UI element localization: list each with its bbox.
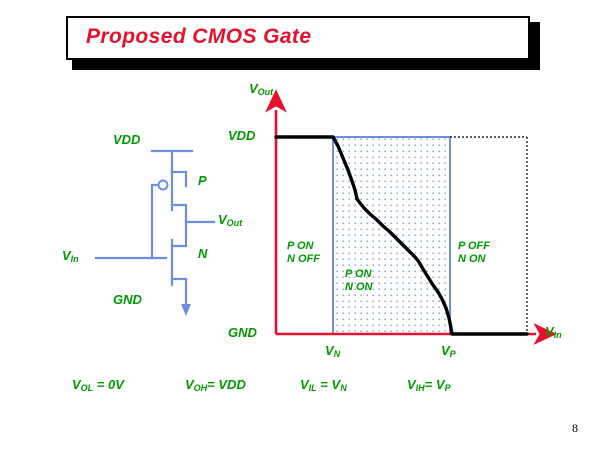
y-axis-label-main: V — [249, 81, 258, 96]
eq-vih-rhs-main: V — [436, 377, 445, 392]
eq-vil-operator: = — [320, 377, 328, 392]
eq-vih-main: V — [407, 377, 416, 392]
y-axis-label-sub: Out — [258, 87, 274, 97]
x-tick-vn-sub: N — [334, 349, 341, 359]
eq-vil-rhs-sub: N — [340, 383, 347, 393]
region-mid-line2: N ON — [345, 281, 373, 294]
eq-voh-operator: = — [207, 377, 215, 392]
x-axis-label: VIn — [545, 325, 562, 340]
x-tick-vp-main: V — [441, 343, 450, 358]
region-label-right: P OFF N ON — [458, 240, 490, 265]
y-tick-gnd: GND — [228, 326, 257, 341]
eq-vol-rhs: 0V — [108, 377, 124, 392]
x-tick-vn-main: V — [325, 343, 334, 358]
x-tick-vp: VP — [441, 344, 456, 359]
eq-voh-main: V — [185, 377, 194, 392]
region-left-line1: P ON — [287, 240, 320, 253]
equation-vol: VOL = 0V — [72, 378, 124, 393]
eq-vol-main: V — [72, 377, 81, 392]
region-label-left: P ON N OFF — [287, 240, 320, 265]
x-axis-label-main: V — [545, 324, 554, 339]
equation-vih: VIH= VP — [407, 378, 451, 393]
slide-canvas: Proposed CMOS Gate — [0, 0, 600, 450]
page-number: 8 — [572, 421, 578, 436]
x-tick-vp-sub: P — [450, 349, 456, 359]
region-label-middle: P ON N ON — [345, 268, 373, 293]
y-tick-vdd: VDD — [228, 129, 255, 144]
eq-vol-sub: OL — [81, 383, 94, 393]
region-mid-line1: P ON — [345, 268, 373, 281]
x-axis-label-sub: In — [554, 330, 562, 340]
region-right-line2: N ON — [458, 253, 490, 266]
y-axis-label: VOut — [249, 82, 273, 97]
eq-voh-sub: OH — [194, 383, 208, 393]
region-right-line1: P OFF — [458, 240, 490, 253]
eq-vih-sub: IH — [416, 383, 425, 393]
eq-vih-rhs-sub: P — [445, 383, 451, 393]
equation-vil: VIL = VN — [300, 378, 347, 393]
region-left-line2: N OFF — [287, 253, 320, 266]
eq-vih-operator: = — [425, 377, 433, 392]
x-tick-vn: VN — [325, 344, 340, 359]
eq-vol-operator: = — [97, 377, 105, 392]
eq-voh-rhs: VDD — [218, 377, 245, 392]
eq-vil-sub: IL — [309, 383, 317, 393]
eq-vil-rhs-main: V — [332, 377, 341, 392]
equation-voh: VOH= VDD — [185, 378, 246, 393]
eq-vil-main: V — [300, 377, 309, 392]
